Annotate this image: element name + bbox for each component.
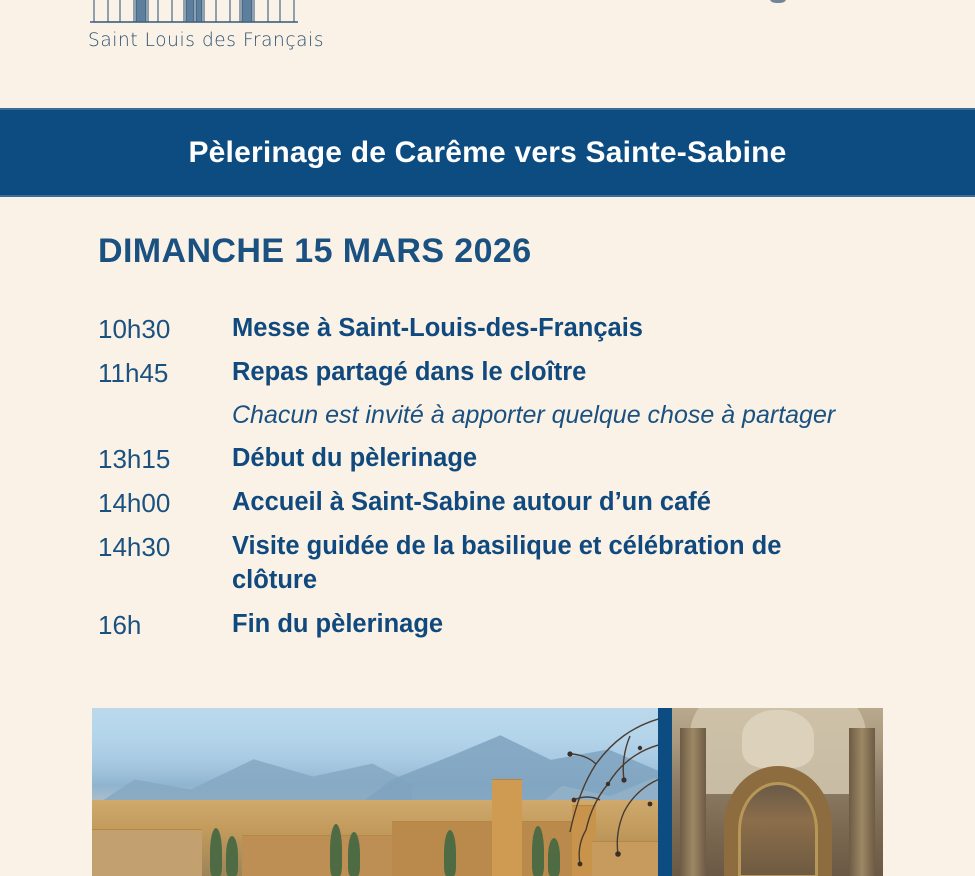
schedule-time: 14h30 — [98, 530, 232, 564]
schedule-item: 14h30 Visite guidée de la basilique et c… — [98, 530, 898, 597]
cypress-tree-shape — [532, 826, 544, 876]
schedule-item: 11h45 Repas partagé dans le cloître — [98, 356, 898, 390]
banner-title: Pèlerinage de Carême vers Sainte-Sabine — [188, 136, 786, 170]
altarpiece-painting-shape — [738, 782, 818, 876]
column-shape — [680, 728, 706, 876]
cypress-tree-shape — [330, 824, 342, 876]
schedule-time: 16h — [98, 608, 232, 642]
schedule-note-row: Chacun est invité à apporter quelque cho… — [98, 399, 898, 432]
cypress-tree-shape — [444, 830, 456, 876]
rome-skyline-basilica-photo — [92, 708, 658, 876]
cypress-tree-shape — [210, 828, 222, 876]
schedule-description: Messe à Saint-Louis-des-Français — [232, 312, 832, 346]
schedule-description: Visite guidée de la basilique et célébra… — [232, 530, 832, 597]
building-shape — [92, 829, 202, 876]
bell-tower-shape — [492, 779, 522, 876]
schedule-description: Fin du pèlerinage — [232, 608, 832, 642]
schedule-item: 14h00 Accueil à Saint-Sabine autour d’un… — [98, 486, 898, 520]
cropped-text-artifact — [770, 0, 786, 3]
schedule-item: 10h30 Messe à Saint-Louis-des-Français — [98, 312, 898, 346]
schedule-time: 10h30 — [98, 312, 232, 346]
building-shape — [592, 841, 658, 876]
cypress-tree-shape — [548, 838, 560, 876]
schedule-item: 13h15 Début du pèlerinage — [98, 442, 898, 476]
schedule-list: 10h30 Messe à Saint-Louis-des-Français 1… — [98, 312, 898, 652]
cypress-tree-shape — [226, 836, 238, 876]
column-shape — [849, 728, 875, 876]
title-banner: Pèlerinage de Carême vers Sainte-Sabine — [0, 108, 975, 197]
schedule-time: 14h00 — [98, 486, 232, 520]
schedule-description: Accueil à Saint-Sabine autour d’un café — [232, 486, 832, 520]
schedule-description: Repas partagé dans le cloître — [232, 356, 832, 390]
stucco-sculpture-shape — [742, 710, 814, 768]
schedule-item: 16h Fin du pèlerinage — [98, 608, 898, 642]
photo-strip — [92, 708, 883, 876]
cypress-tree-shape — [348, 832, 360, 876]
church-facade-line-drawing-icon — [88, 0, 300, 28]
logo-wordmark: Saint Louis des Français — [88, 30, 300, 51]
schedule-note: Chacun est invité à apporter quelque cho… — [232, 399, 835, 432]
date-heading: DIMANCHE 15 MARS 2026 — [98, 232, 532, 271]
schedule-time: 13h15 — [98, 442, 232, 476]
photo-divider — [658, 708, 672, 876]
building-shape — [242, 835, 402, 876]
site-logo: Saint Louis des Français — [88, 0, 300, 51]
schedule-description: Début du pèlerinage — [232, 442, 832, 476]
baroque-church-interior-photo — [672, 708, 883, 876]
basilica-nave-shape — [392, 821, 572, 876]
poster-page: Saint Louis des Français Pèlerinage de C… — [0, 0, 975, 876]
schedule-time: 11h45 — [98, 356, 232, 390]
